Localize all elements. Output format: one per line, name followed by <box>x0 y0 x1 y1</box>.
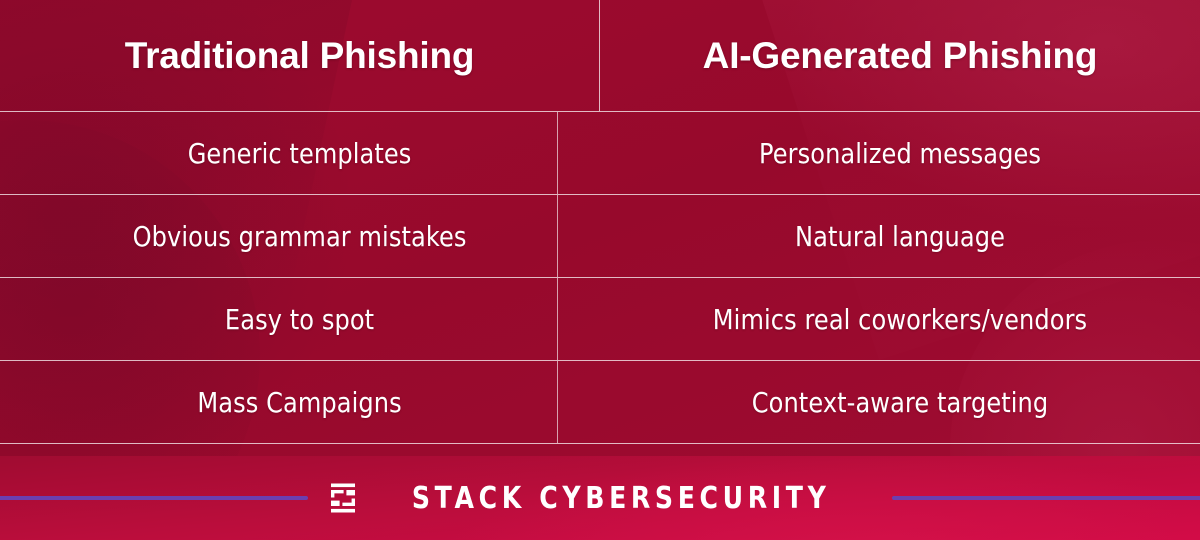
table-cell-label: Easy to spot <box>225 303 374 336</box>
column-header-traditional: Traditional Phishing <box>0 0 600 111</box>
stack-logo-icon <box>330 483 356 513</box>
column-header-ai-generated-label: AI-Generated Phishing <box>703 35 1098 77</box>
brand-name-label: STACK CYBERSECURITY <box>412 481 831 516</box>
phishing-comparison-infographic: Traditional Phishing AI-Generated Phishi… <box>0 0 1200 540</box>
table-cell-label: Obvious grammar mistakes <box>133 220 467 253</box>
table-cell-ai-generated: Natural language <box>642 195 1158 277</box>
brand-footer: STACK CYBERSECURITY <box>0 456 1200 540</box>
table-cell-traditional: Generic templates <box>42 112 558 194</box>
table-row: Generic templates Personalized messages <box>0 112 1200 195</box>
footer-rule-right <box>892 496 1200 500</box>
table-cell-ai-generated: Personalized messages <box>642 112 1158 194</box>
brand-lockup: STACK CYBERSECURITY <box>330 481 870 516</box>
table-cell-label: Mass Campaigns <box>197 386 401 419</box>
comparison-table: Traditional Phishing AI-Generated Phishi… <box>0 0 1200 455</box>
table-row: Obvious grammar mistakes Natural languag… <box>0 195 1200 278</box>
footer-rule-left <box>0 496 308 500</box>
column-header-traditional-label: Traditional Phishing <box>125 35 475 77</box>
column-header-ai-generated: AI-Generated Phishing <box>600 0 1200 111</box>
table-header-row: Traditional Phishing AI-Generated Phishi… <box>0 0 1200 112</box>
table-cell-label: Natural language <box>795 220 1005 253</box>
table-cell-label: Generic templates <box>188 137 412 170</box>
table-cell-traditional: Obvious grammar mistakes <box>42 195 558 277</box>
table-cell-ai-generated: Context-aware targeting <box>642 361 1158 443</box>
table-cell-traditional: Mass Campaigns <box>42 361 558 443</box>
table-cell-label: Context-aware targeting <box>752 386 1049 419</box>
table-cell-label: Mimics real coworkers/vendors <box>713 303 1087 336</box>
table-row: Easy to spot Mimics real coworkers/vendo… <box>0 278 1200 361</box>
table-cell-ai-generated: Mimics real coworkers/vendors <box>642 278 1158 360</box>
table-cell-label: Personalized messages <box>759 137 1041 170</box>
table-row: Mass Campaigns Context-aware targeting <box>0 361 1200 444</box>
table-cell-traditional: Easy to spot <box>42 278 558 360</box>
